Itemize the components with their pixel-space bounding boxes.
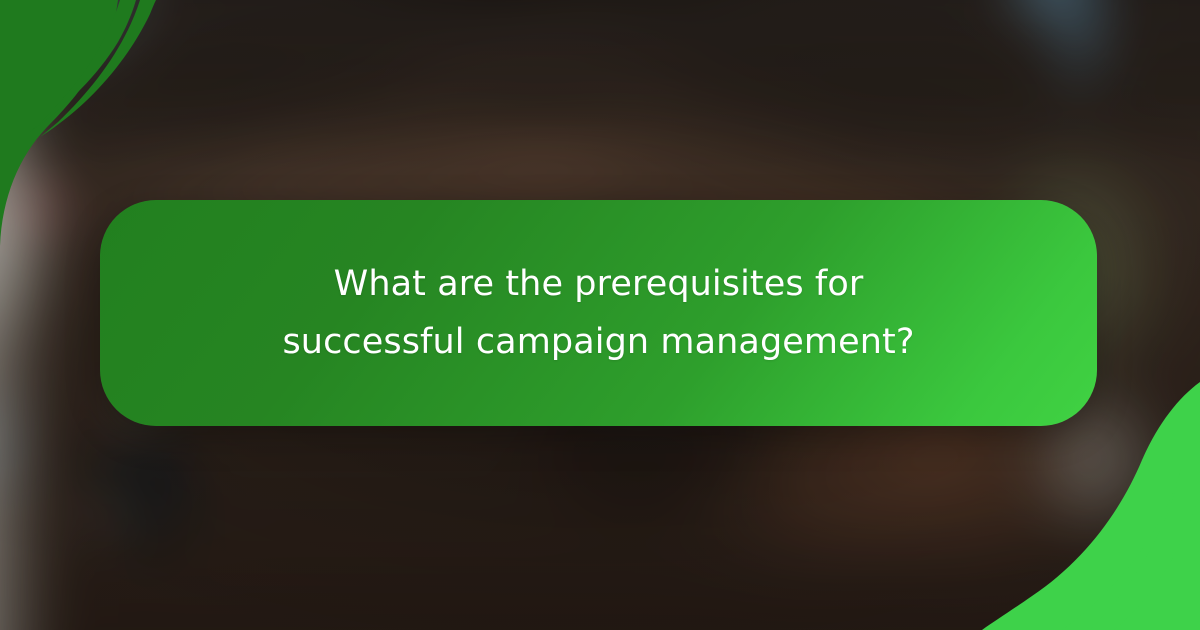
question-text: What are the prerequisites for successfu… bbox=[249, 255, 949, 371]
question-card-canvas: What are the prerequisites for successfu… bbox=[0, 0, 1200, 630]
question-card: What are the prerequisites for successfu… bbox=[100, 200, 1097, 426]
